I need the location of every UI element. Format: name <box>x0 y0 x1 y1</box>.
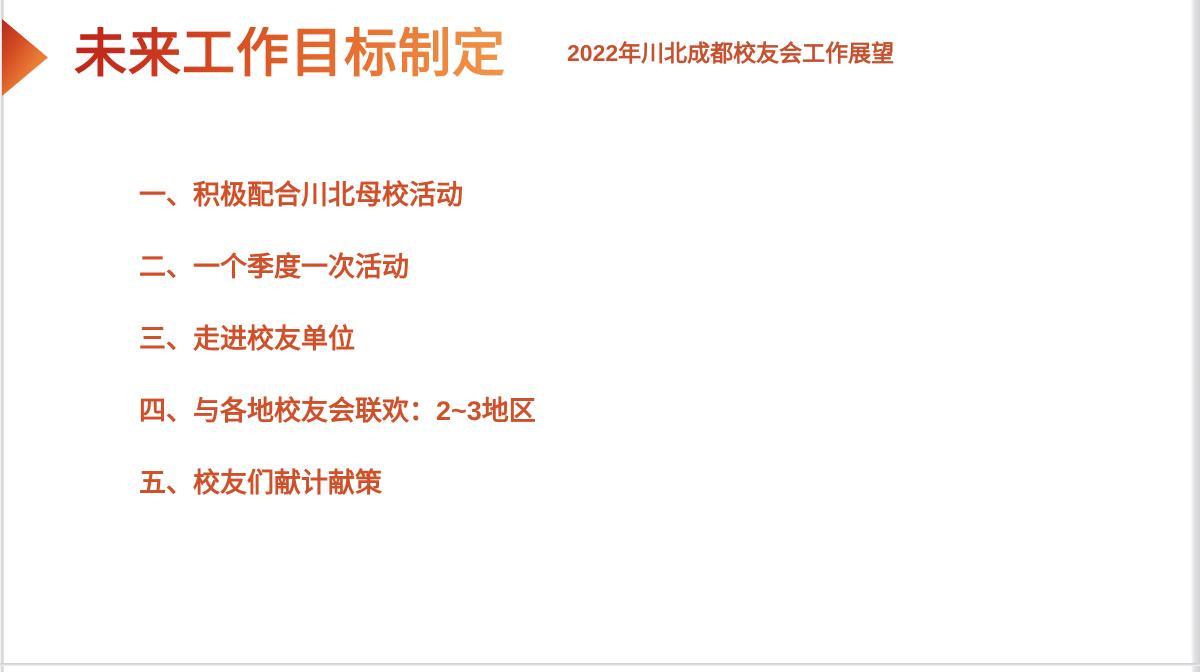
list-item-label: 积极配合川北母校活动 <box>193 182 463 209</box>
slide-header: 未来工作目标制定 2022年川北成都校友会工作展望 <box>0 0 1200 118</box>
slide-subtitle: 2022年川北成都校友会工作展望 <box>567 40 894 68</box>
list-item: 一、 积极配合川北母校活动 <box>139 178 1119 212</box>
agenda-list: 一、 积极配合川北母校活动 二、 一个季度一次活动 三、 走进校友单位 四、 与… <box>139 178 1119 500</box>
list-item-marker: 二、 <box>139 254 193 281</box>
list-item: 四、 与各地校友会联欢：2~3地区 <box>139 394 1119 428</box>
slide-canvas: 未来工作目标制定 2022年川北成都校友会工作展望 一、 积极配合川北母校活动 … <box>0 0 1200 672</box>
list-item: 三、 走进校友单位 <box>139 322 1119 356</box>
list-item-label: 走进校友单位 <box>193 326 355 353</box>
list-item-label: 与各地校友会联欢：2~3地区 <box>193 398 536 425</box>
list-item-label: 一个季度一次活动 <box>193 254 409 281</box>
list-item: 二、 一个季度一次活动 <box>139 250 1119 284</box>
list-item-marker: 五、 <box>139 470 193 497</box>
list-item: 五、 校友们献计献策 <box>139 466 1119 500</box>
page-edge-bottom <box>0 663 1200 666</box>
list-item-marker: 四、 <box>139 398 193 425</box>
list-item-label: 校友们献计献策 <box>193 470 382 497</box>
list-item-marker: 一、 <box>139 182 193 209</box>
triangle-right-icon <box>2 19 48 96</box>
page-title-container: 未来工作目标制定 <box>74 16 506 90</box>
list-item-marker: 三、 <box>139 326 193 353</box>
page-title: 未来工作目标制定 <box>74 27 506 80</box>
